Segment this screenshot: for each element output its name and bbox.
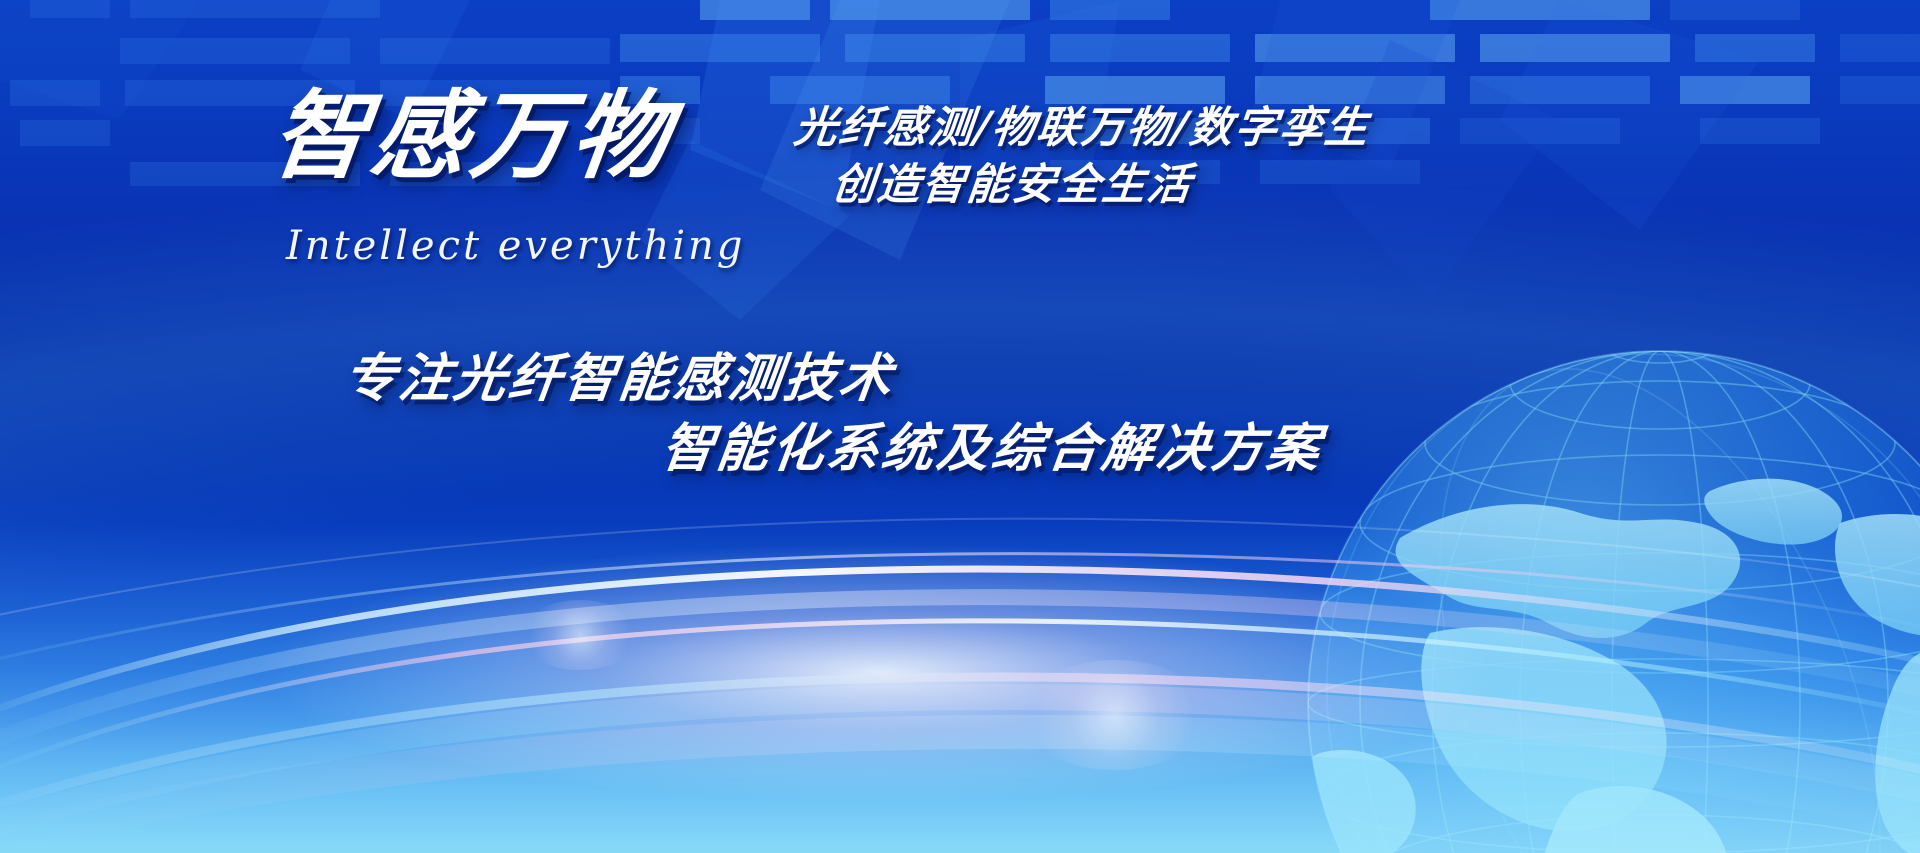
slogan-line-2: 智能化系统及综合解决方案 [658,414,1529,484]
slogan-line-1: 专注光纤智能感测技术 [340,344,1529,414]
headline-english: Intellect everything [286,223,745,269]
slogan-block: 专注光纤智能感测技术 智能化系统及综合解决方案 [344,344,1524,483]
tagline-line-2: 创造智能安全生活 [829,157,1497,214]
banner-content: 智感万物 Intellect everything 光纤感测/物联万物/数字孪生… [0,0,1920,853]
tagline-block: 光纤感测/物联万物/数字孪生 创造智能安全生活 [794,100,1494,214]
tagline-line-1: 光纤感测/物联万物/数字孪生 [791,100,1497,157]
headline-chinese: 智感万物 [266,88,678,184]
banner: 智感万物 Intellect everything 光纤感测/物联万物/数字孪生… [0,0,1920,853]
